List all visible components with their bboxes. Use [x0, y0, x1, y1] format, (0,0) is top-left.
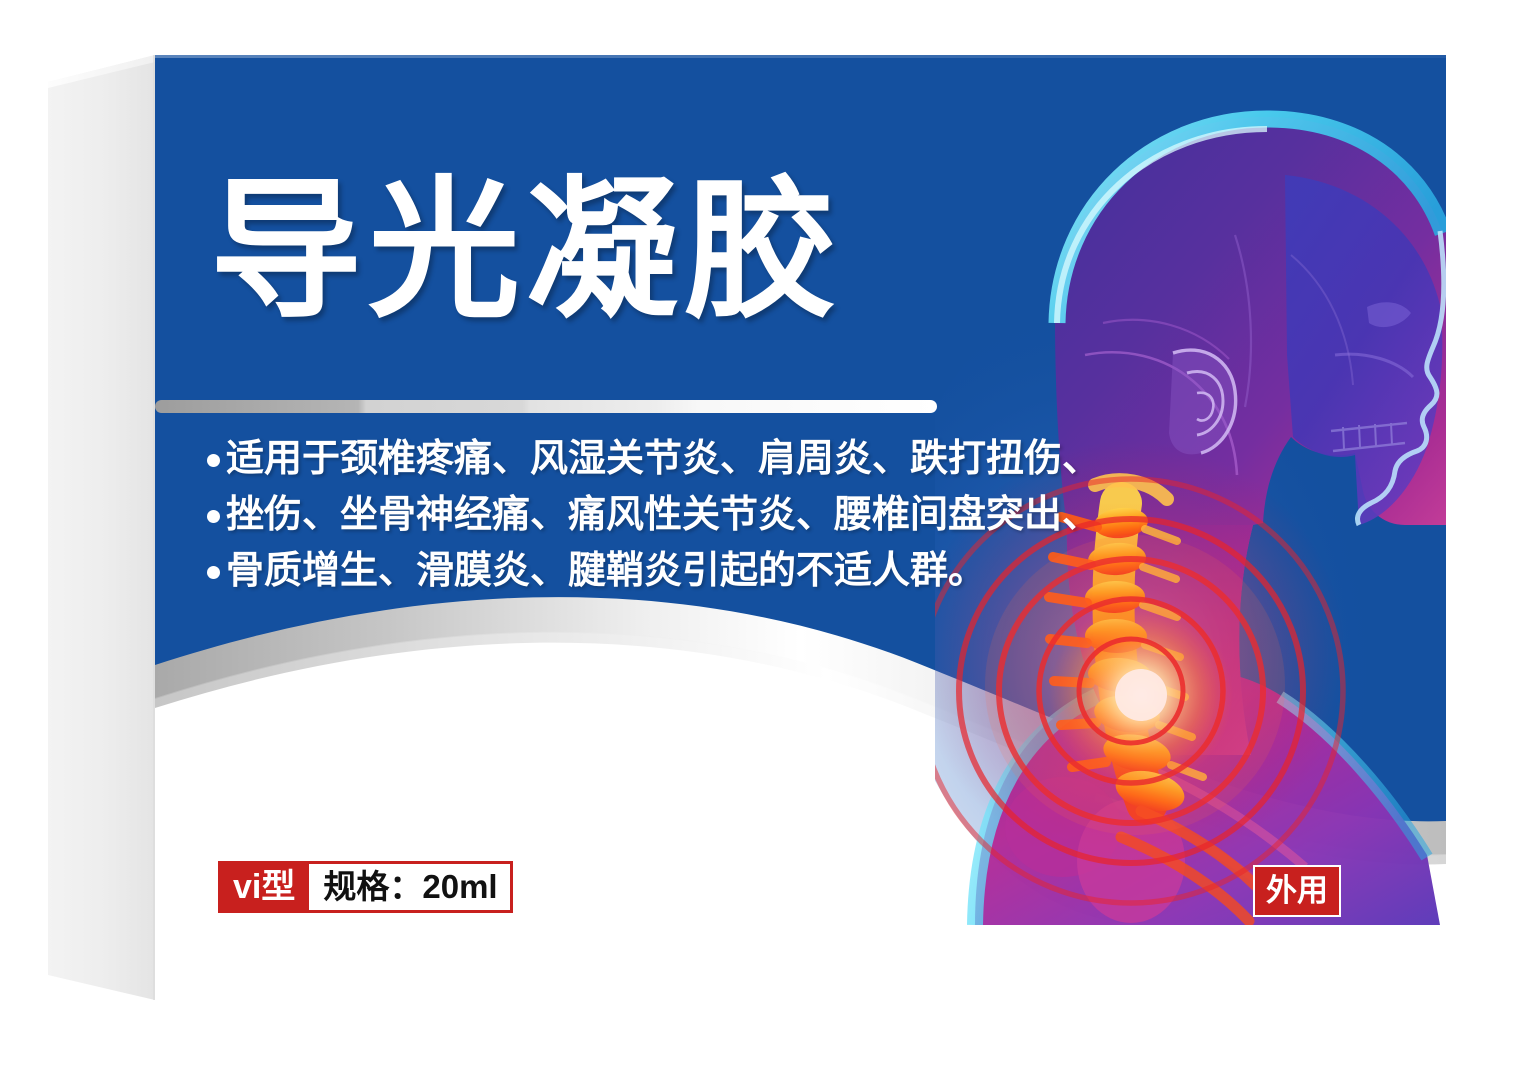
product-package-scene: 导光凝胶 适用于颈椎疼痛、风湿关节炎、肩周炎、跌打扭伤、 挫伤、坐骨神经痛、痛风…	[0, 0, 1528, 1080]
product-type-label: vi型	[221, 864, 309, 910]
page-title: 导光凝胶	[210, 175, 842, 327]
product-volume-label: 规格：20ml	[309, 864, 509, 910]
usage-badge: 外用	[1255, 867, 1339, 915]
indication-text: 骨质增生、滑膜炎、腱鞘炎引起的不适人群。	[226, 552, 986, 590]
bullet-dot-icon	[207, 566, 220, 579]
indication-text: 适用于颈椎疼痛、风湿关节炎、肩周炎、跌打扭伤、	[226, 440, 1100, 478]
bullet-dot-icon	[207, 454, 220, 467]
list-item: 骨质增生、滑膜炎、腱鞘炎引起的不适人群。	[207, 552, 1037, 590]
spec-badge: vi型 规格：20ml	[218, 861, 513, 913]
carton-front-face: 导光凝胶 适用于颈椎疼痛、风湿关节炎、肩周炎、跌打扭伤、 挫伤、坐骨神经痛、痛风…	[155, 55, 1446, 1000]
bullet-dot-icon	[207, 510, 220, 523]
indication-text: 挫伤、坐骨神经痛、痛风性关节炎、腰椎间盘突出、	[226, 496, 1100, 534]
indications-list: 适用于颈椎疼痛、风湿关节炎、肩周炎、跌打扭伤、 挫伤、坐骨神经痛、痛风性关节炎、…	[207, 440, 1037, 608]
title-divider-rule	[155, 400, 937, 413]
list-item: 适用于颈椎疼痛、风湿关节炎、肩周炎、跌打扭伤、	[207, 440, 1037, 478]
list-item: 挫伤、坐骨神经痛、痛风性关节炎、腰椎间盘突出、	[207, 496, 1037, 534]
